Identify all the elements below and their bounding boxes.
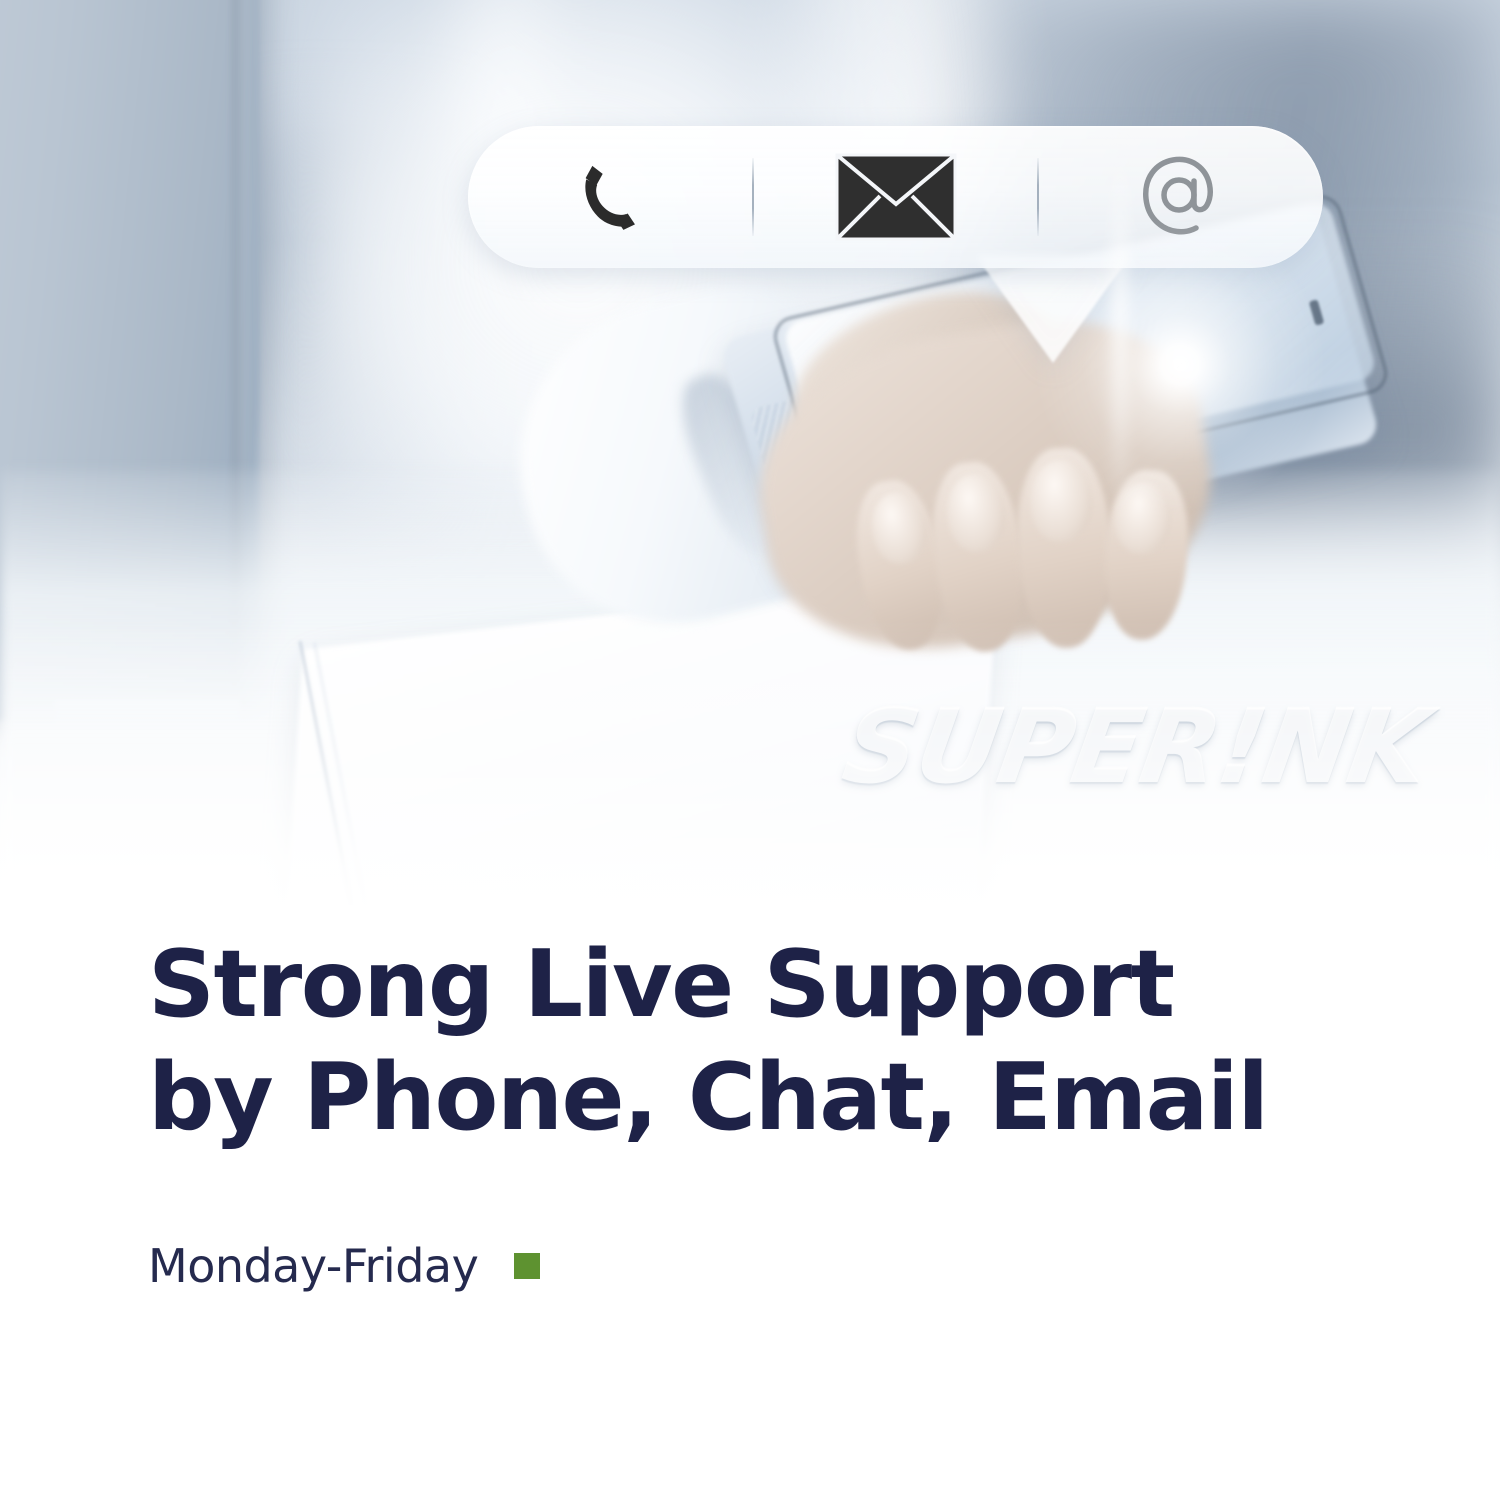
envelope-icon	[834, 152, 958, 242]
contact-item-phone[interactable]	[468, 126, 752, 268]
contact-item-online[interactable]	[1039, 126, 1323, 268]
superink-watermark: SUPER!NK	[836, 688, 1437, 807]
hero-text-block: Strong Live Support by Phone, Chat, Emai…	[148, 928, 1348, 1293]
availability-subtitle: Monday-Friday	[148, 1239, 478, 1293]
phone-icon	[571, 158, 649, 236]
accent-square	[514, 1253, 540, 1279]
contact-item-email[interactable]	[754, 126, 1038, 268]
speech-bubble-tail	[975, 255, 1131, 363]
hero-photo: SUPER!NK	[0, 0, 1500, 905]
subtitle-row: Monday-Friday	[148, 1239, 1348, 1293]
hero-banner: SUPER!NK Strong Live Support by Phone, C…	[0, 0, 1500, 1500]
contact-icon-bar[interactable]	[468, 126, 1323, 268]
at-sign-icon	[1135, 151, 1227, 243]
page-title: Strong Live Support by Phone, Chat, Emai…	[148, 928, 1288, 1155]
